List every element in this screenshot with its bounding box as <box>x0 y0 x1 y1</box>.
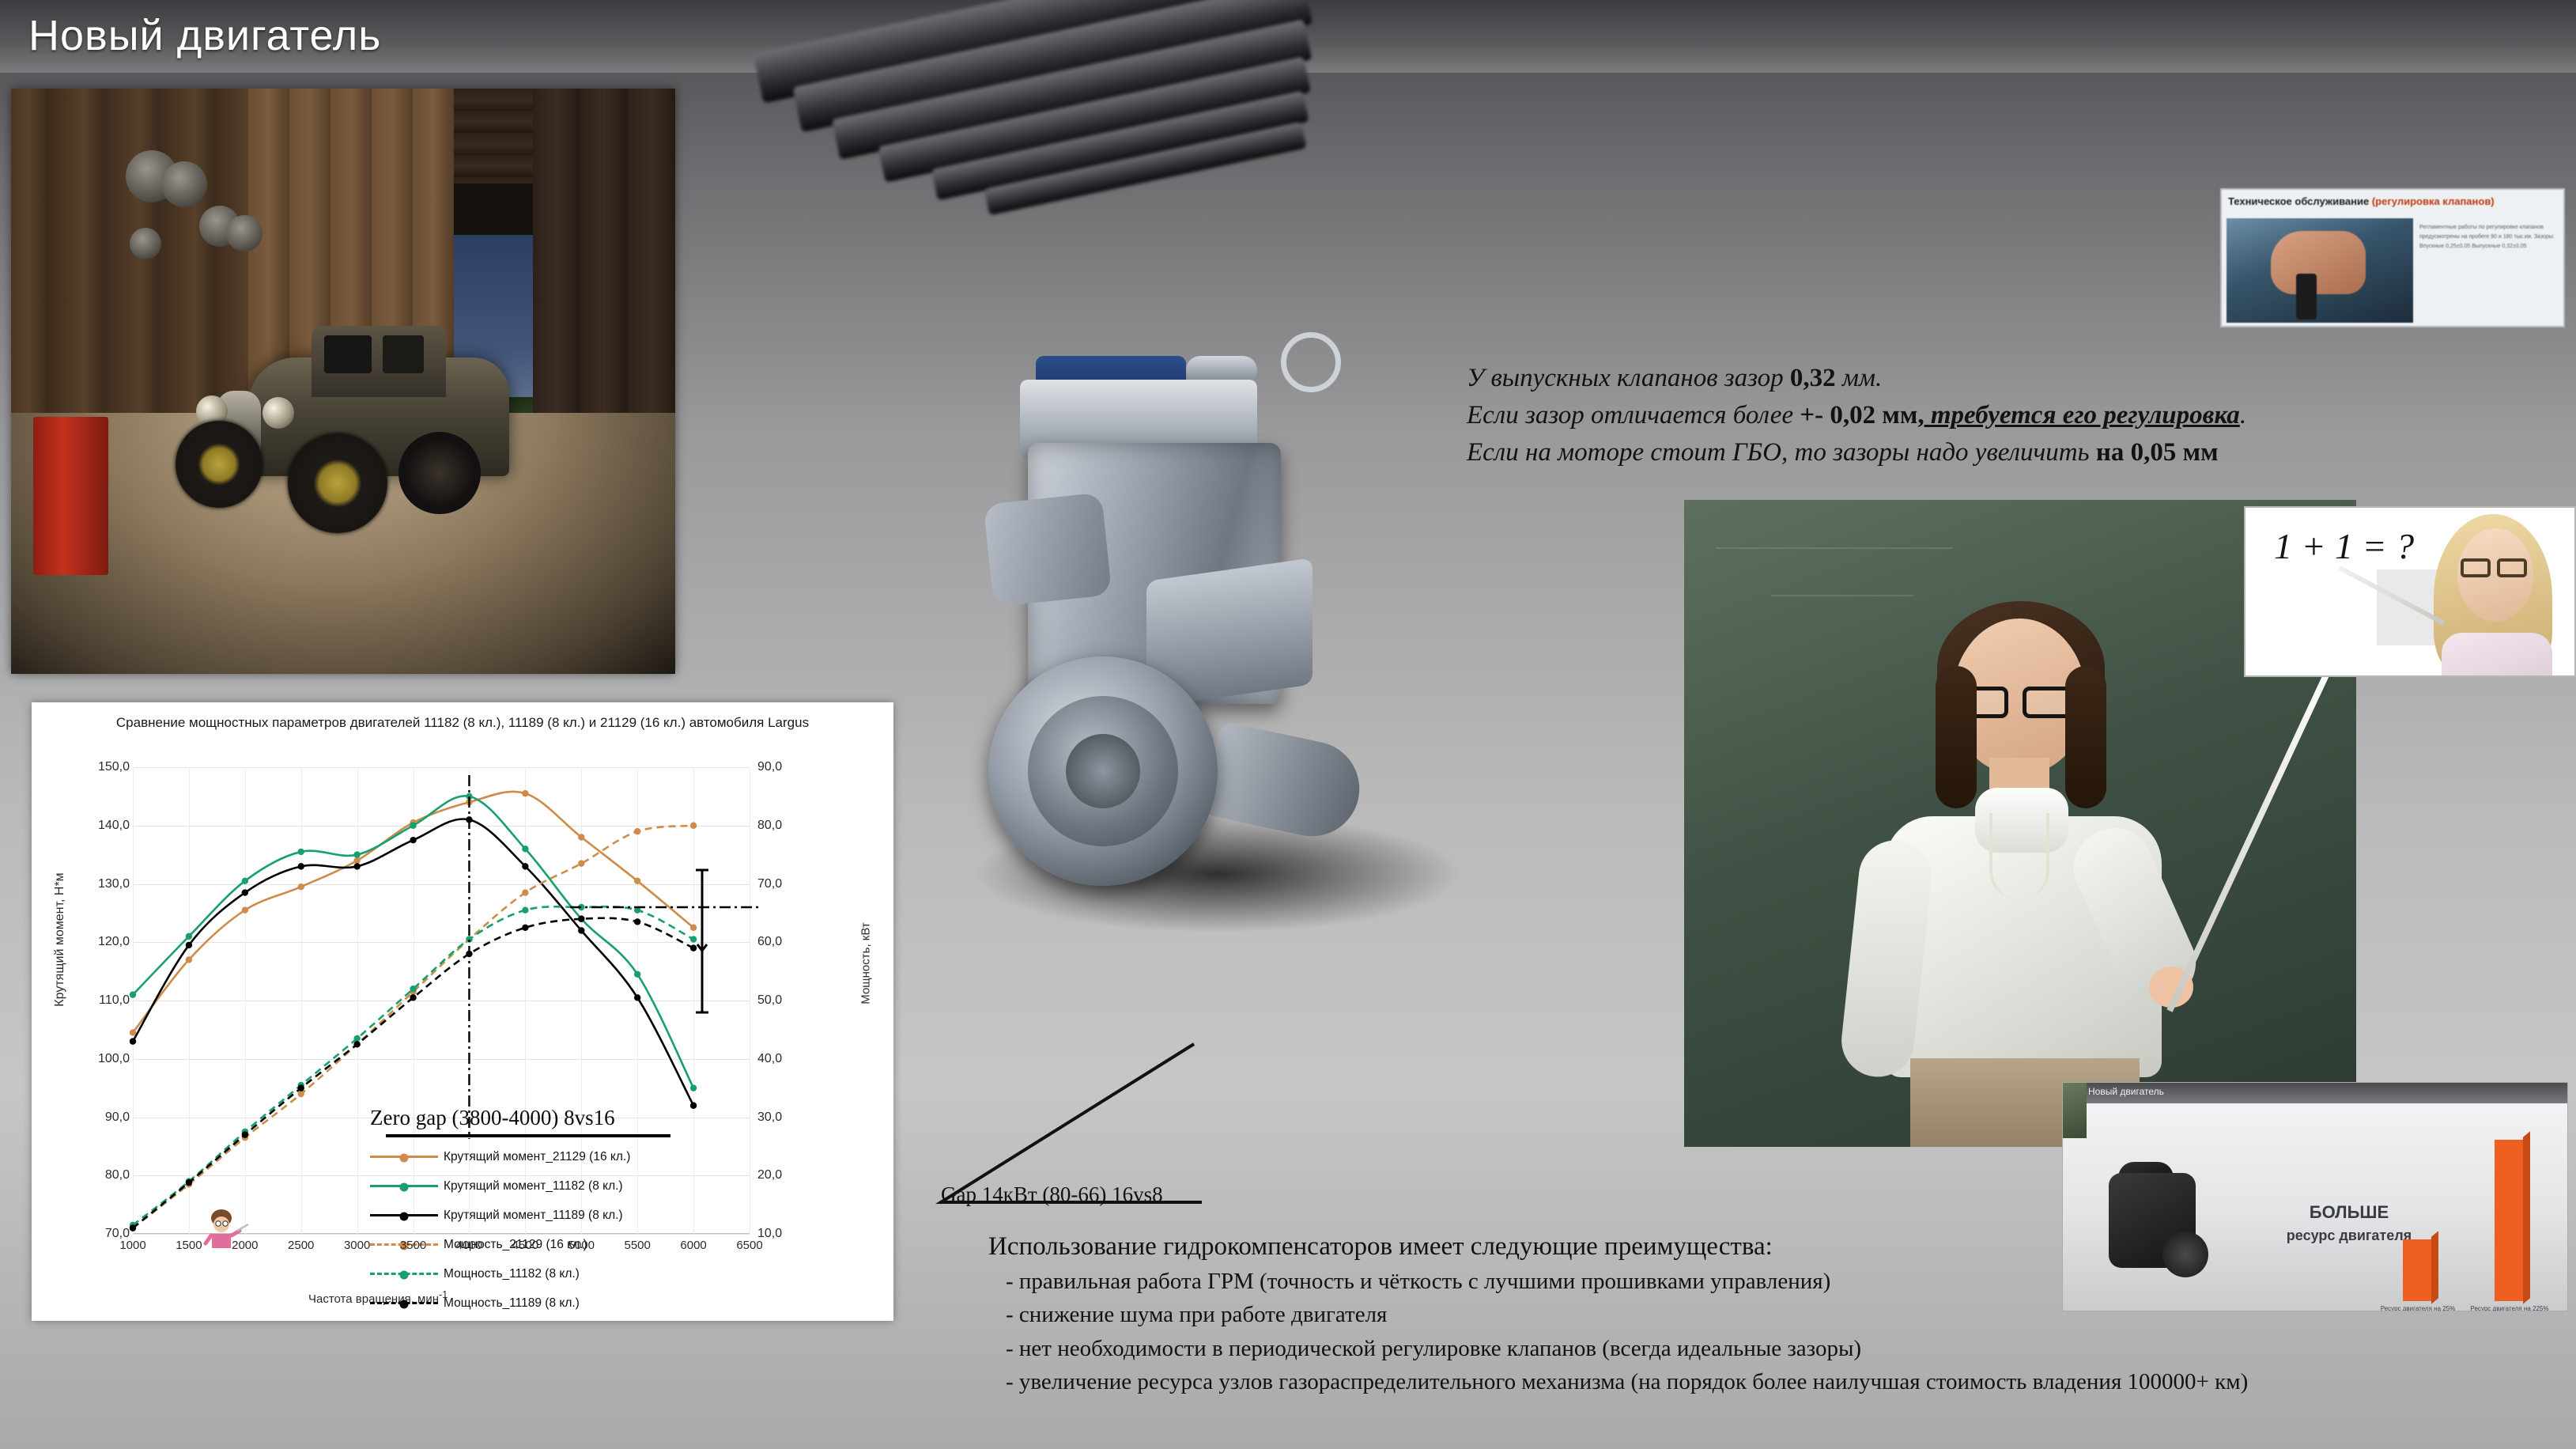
advantages-list: - правильная работа ГРМ (точность и чётк… <box>988 1265 2554 1398</box>
chart-title: Сравнение мощностных параметров двигател… <box>79 713 846 733</box>
chart-y-tick-left: 90,0 <box>105 1110 130 1125</box>
teacher-necklace <box>1989 813 2049 900</box>
advantages-bullet: - увеличение ресурса узлов газораспредел… <box>988 1365 2554 1398</box>
gap-power-annotation: Gap 14кВт (80-66) 16vs8 <box>941 1182 1163 1207</box>
thumbnail-valve-service-slide[interactable]: Техническое обслуживание (регулировка кл… <box>2220 188 2565 327</box>
chart-y-tick-right: 20,0 <box>757 1168 782 1182</box>
chart-legend-item: Крутящий момент_11189 (8 кл.) <box>370 1201 710 1230</box>
chart-data-point <box>578 927 584 933</box>
thumbnail-math-teacher[interactable]: 1 + 1 = ? <box>2244 506 2576 677</box>
chart-legend-marker <box>400 1300 409 1309</box>
thumb1-body-text: Регламентные работы по регулировке клапа… <box>2419 223 2562 252</box>
chart-data-point <box>410 837 416 843</box>
advantages-bullet: - правильная работа ГРМ (точность и чётк… <box>988 1265 2554 1298</box>
advantages-bullet: - снижение шума при работе двигателя <box>988 1298 2554 1331</box>
teacher-hair-strand-left <box>1936 666 1977 808</box>
chart-data-point <box>410 986 416 992</box>
chart-legend-swatch <box>370 1185 438 1187</box>
chart-data-point <box>298 883 304 890</box>
chart-x-tick: 6500 <box>736 1239 762 1252</box>
chart-y-tick-left: 150,0 <box>98 760 130 774</box>
valve-line2-tolerance: +- 0,02 мм, <box>1800 401 1924 429</box>
thumb3-titlebar: Новый двигатель <box>2063 1083 2567 1103</box>
barn-hanging-pan-2 <box>161 161 207 207</box>
thumb1-title-accent: (регулировка клапанов) <box>2372 195 2495 207</box>
valve-clearance-text: У выпускных клапанов зазор 0,32 мм. Если… <box>1467 360 2558 471</box>
chart-y-tick-right: 90,0 <box>757 760 782 774</box>
chart-data-point <box>186 942 192 948</box>
chart-data-point <box>353 857 360 864</box>
barn-hanging-pan-4 <box>226 215 263 252</box>
valve-line2-emphasis: требуется его регулировка <box>1924 401 2240 429</box>
chalkboard-mark-1 <box>1716 547 1953 549</box>
hydraulic-lifters-advantages: Использование гидрокомпенсаторов имеет с… <box>988 1232 2554 1398</box>
chart-y-axis-left-label: Крутящий момент, Н*м <box>53 872 67 1006</box>
chart-data-point <box>242 878 248 884</box>
barn-hotrod-photo <box>11 89 675 674</box>
chart-legend-marker <box>400 1271 409 1280</box>
chart-data-point <box>522 925 528 931</box>
thumb2-glasses-left <box>2461 558 2491 577</box>
chart-y-tick-left: 80,0 <box>105 1168 130 1182</box>
chart-data-point <box>522 790 528 796</box>
chart-data-point <box>298 1084 304 1091</box>
chart-legend-item: Крутящий момент_11182 (8 кл.) <box>370 1171 710 1201</box>
chart-data-point <box>242 1131 248 1137</box>
teacher-hair-strand-right <box>2065 666 2106 808</box>
chart-plot-area: Zero gap (3800-4000) 8vs16 Крутящий моме… <box>133 767 750 1234</box>
chart-y-tick-left: 110,0 <box>99 993 130 1008</box>
valve-line3-part-a: Если на моторе стоит ГБО, то зазоры надо… <box>1467 438 2096 467</box>
chart-legend-swatch <box>370 1273 438 1275</box>
thumb1-hand <box>2271 231 2366 294</box>
chart-legend-swatch <box>370 1302 438 1304</box>
chart-y-tick-right: 40,0 <box>757 1052 782 1066</box>
chart-data-point <box>634 994 640 1001</box>
thumb2-equation: 1 + 1 = ? <box>2274 525 2414 567</box>
chart-data-point <box>186 933 192 940</box>
chart-legend-marker <box>400 1154 409 1163</box>
valve-line1-value: 0,32 <box>1790 364 1836 392</box>
chart-y-tick-right: 70,0 <box>757 877 782 891</box>
chalkboard-mark-2 <box>1771 595 1913 596</box>
barn-hanging-pan-5 <box>130 228 161 259</box>
valve-line1-part-a: У выпускных клапанов зазор <box>1467 364 1790 392</box>
thumb2-woman <box>2415 514 2565 677</box>
chart-data-point <box>634 971 640 978</box>
chart-x-tick: 4000 <box>456 1239 482 1252</box>
chart-data-point <box>578 860 584 866</box>
chart-x-tick: 1000 <box>119 1239 145 1252</box>
car-window-rear <box>383 335 424 373</box>
chart-data-point <box>186 956 192 963</box>
chart-data-point <box>186 1179 192 1186</box>
car-wheel-far <box>398 432 481 514</box>
thumb2-glasses-right <box>2497 558 2527 577</box>
barn-red-cabinet <box>33 417 108 575</box>
chart-x-tick: 4500 <box>512 1239 538 1252</box>
engine-photo <box>909 261 1510 1084</box>
chart-y-tick-left: 130,0 <box>98 877 130 891</box>
chart-data-point <box>353 1041 360 1047</box>
chart-data-point <box>130 1029 136 1035</box>
chart-data-point <box>410 823 416 829</box>
chart-x-tick: 5000 <box>568 1239 595 1252</box>
chart-data-point <box>130 991 136 997</box>
chart-data-point <box>634 918 640 925</box>
chart-data-point <box>690 1103 697 1109</box>
thumb3-side-tab <box>2063 1083 2087 1138</box>
valve-text-line-2: Если зазор отличается более +- 0,02 мм, … <box>1467 397 2558 434</box>
chart-legend-label: Мощность_11182 (8 кл.) <box>444 1267 580 1281</box>
chart-y-tick-left: 120,0 <box>98 935 130 949</box>
chart-data-point <box>522 906 528 913</box>
chart-data-point <box>578 834 584 840</box>
chart-x-tick: 2000 <box>232 1239 258 1252</box>
chart-data-point <box>353 863 360 869</box>
valve-line3-value: на 0,05 мм <box>2096 438 2219 467</box>
chart-legend-swatch <box>370 1214 438 1216</box>
thumb1-title-plain: Техническое обслуживание <box>2228 195 2372 207</box>
teacher-pointer-stick <box>2166 672 2329 1012</box>
thumb1-tool <box>2296 274 2317 320</box>
car-window-front <box>324 335 372 373</box>
chart-legend: Крутящий момент_21129 (16 кл.)Крутящий м… <box>370 1142 710 1318</box>
chart-x-tick: 1500 <box>176 1239 202 1252</box>
zero-gap-underline <box>386 1134 670 1137</box>
chart-legend-item: Мощность_11189 (8 кл.) <box>370 1288 710 1318</box>
engine-hub <box>1066 734 1140 808</box>
valve-text-line-3: Если на моторе стоит ГБО, то зазоры надо… <box>1467 434 2558 471</box>
teacher-figure <box>1834 619 2198 1147</box>
car-wheel-front <box>176 421 263 508</box>
hot-rod-car <box>161 350 533 579</box>
chart-legend-marker <box>400 1183 409 1192</box>
chart-y-tick-right: 60,0 <box>757 935 782 949</box>
chart-data-point <box>298 863 304 869</box>
chart-data-point <box>578 916 584 922</box>
chart-series-line <box>133 819 693 1105</box>
thumb1-title: Техническое обслуживание (регулировка кл… <box>2222 190 2563 209</box>
chart-data-point <box>690 823 697 829</box>
page-title: Новый двигатель <box>28 11 381 60</box>
chart-y-tick-left: 140,0 <box>98 819 130 833</box>
chart-data-point <box>353 1035 360 1042</box>
chart-legend-label: Крутящий момент_11182 (8 кл.) <box>444 1179 623 1194</box>
chart-legend-label: Мощность_11189 (8 кл.) <box>444 1296 580 1311</box>
chart-y-axis-right-label: Мощность, кВт <box>859 922 873 1004</box>
chart-y-tick-right: 30,0 <box>757 1110 782 1125</box>
chart-data-point <box>522 846 528 852</box>
chart-data-point <box>353 851 360 857</box>
chart-legend-swatch <box>370 1156 438 1158</box>
chart-data-point <box>242 889 248 895</box>
chart-data-point <box>634 878 640 884</box>
chart-x-tick: 3000 <box>344 1239 370 1252</box>
chart-data-point <box>634 828 640 834</box>
engine-ring <box>1281 332 1341 392</box>
valve-line1-part-c: мм. <box>1836 364 1883 392</box>
chart-legend-item: Мощность_11182 (8 кл.) <box>370 1259 710 1288</box>
valve-text-line-1: У выпускных клапанов зазор 0,32 мм. <box>1467 360 2558 397</box>
thumb1-photo <box>2227 218 2413 323</box>
chart-data-point <box>522 889 528 895</box>
chart-data-point <box>298 849 304 855</box>
chart-x-tick: 3500 <box>400 1239 426 1252</box>
advantages-heading: Использование гидрокомпенсаторов имеет с… <box>988 1232 2554 1262</box>
zero-gap-annotation: Zero gap (3800-4000) 8vs16 <box>370 1106 615 1130</box>
advantages-bullet: - нет необходимости в периодической регу… <box>988 1332 2554 1365</box>
chart-data-point <box>410 994 416 1001</box>
chart-x-tick: 5500 <box>624 1239 650 1252</box>
chart-data-point <box>130 1038 136 1044</box>
power-torque-chart: Сравнение мощностных параметров двигател… <box>32 702 893 1321</box>
chart-y-tick-right: 80,0 <box>757 819 782 833</box>
chart-data-point <box>130 1224 136 1231</box>
chart-y-tick-right: 50,0 <box>757 993 782 1008</box>
chart-data-point <box>298 1091 304 1097</box>
chart-x-tick: 2500 <box>288 1239 314 1252</box>
chart-y-tick-left: 100,0 <box>98 1052 130 1066</box>
chart-data-point <box>522 863 528 869</box>
chart-legend-marker <box>400 1213 409 1221</box>
car-headlight-right <box>263 397 294 429</box>
valve-line2-period: . <box>2240 401 2246 429</box>
valve-line2-part-a: Если зазор отличается более <box>1467 401 1800 429</box>
thumb3-headline-1: БОЛЬШЕ <box>2310 1202 2389 1222</box>
chart-legend-label: Крутящий момент_11189 (8 кл.) <box>444 1209 623 1223</box>
car-wheel-rear <box>288 433 387 533</box>
teacher-glasses-right <box>2023 687 2072 718</box>
thumb2-body <box>2442 633 2552 677</box>
chart-data-point <box>242 906 248 913</box>
thumb3-slide-title: Новый двигатель <box>2088 1086 2164 1097</box>
chart-legend-item: Крутящий момент_21129 (16 кл.) <box>370 1142 710 1171</box>
chart-legend-label: Крутящий момент_21129 (16 кл.) <box>444 1150 630 1164</box>
chart-x-tick: 6000 <box>680 1239 706 1252</box>
engine-intake-manifold <box>984 493 1112 607</box>
